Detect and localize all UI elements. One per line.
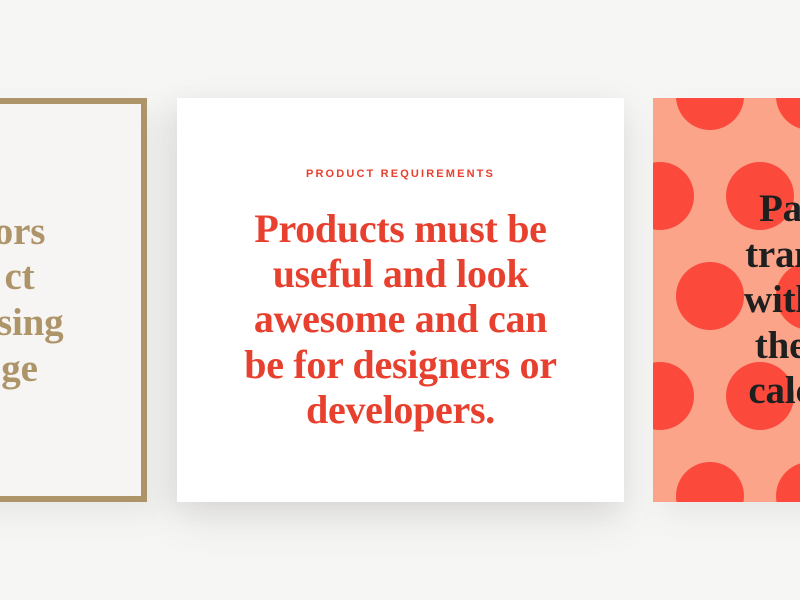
carousel-stage: ors ct using ge PRODUCT REQUIREMENTS Pro… [0,0,800,600]
card-center-headline: Products must be useful and look awesome… [236,206,566,432]
card-right-polka-dot[interactable]: Pa tran with the calc [653,98,800,502]
card-center-product-requirements[interactable]: PRODUCT REQUIREMENTS Products must be us… [177,98,624,502]
card-right-quote-text: Pa tran with the calc [653,98,800,502]
card-left-gold[interactable]: ors ct using ge [0,98,147,502]
card-left-quote-text: ors ct using ge [0,209,81,392]
card-center-eyebrow: PRODUCT REQUIREMENTS [306,168,495,180]
